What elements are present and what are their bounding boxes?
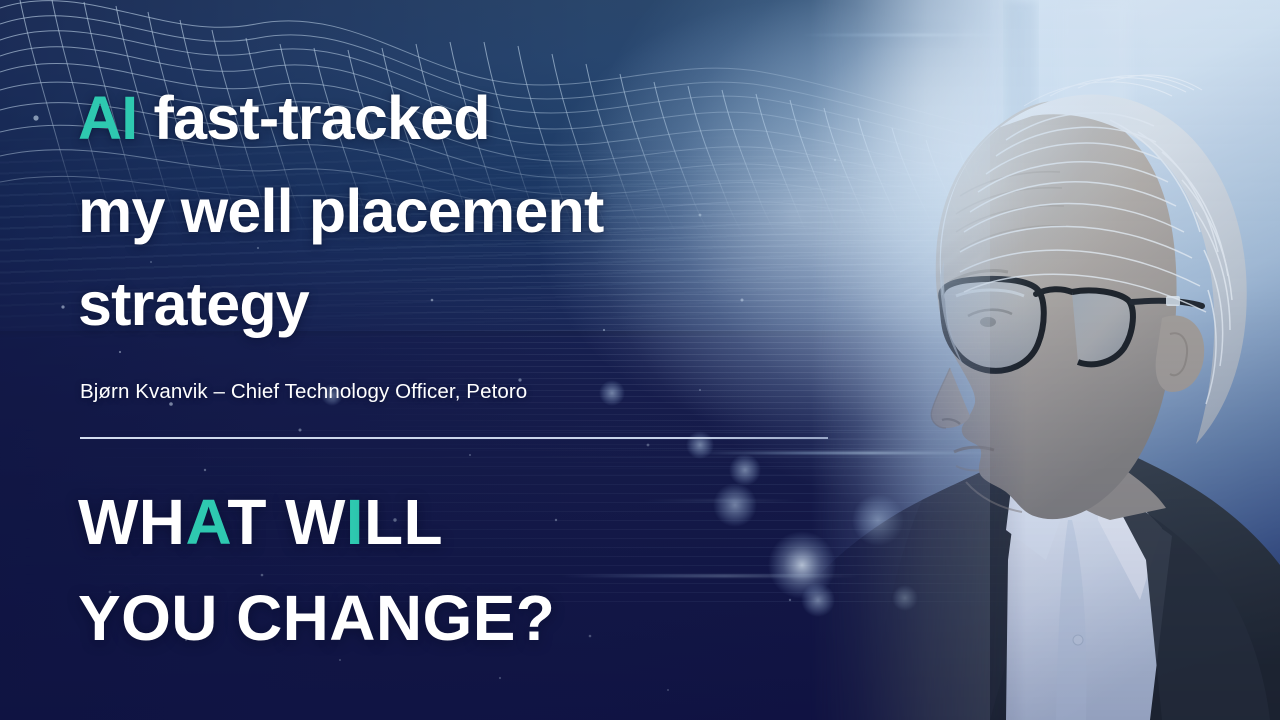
headline-line1-rest: fast-tracked bbox=[137, 84, 489, 152]
promo-slide: AI fast-trackedmy well placementstrategy… bbox=[0, 0, 1280, 720]
slide-content: AI fast-trackedmy well placementstrategy… bbox=[78, 0, 898, 720]
headline-line3: strategy bbox=[78, 270, 309, 338]
cta-part2: T W bbox=[227, 486, 345, 558]
cta-part1: WH bbox=[78, 486, 185, 558]
speaker-byline: Bjørn Kvanvik – Chief Technology Officer… bbox=[80, 380, 527, 404]
divider-rule bbox=[80, 437, 828, 439]
cta-part3: LL bbox=[364, 486, 443, 558]
call-to-action: WHAT WILLYOU CHANGE? bbox=[78, 474, 868, 666]
cta-accent-i: I bbox=[346, 486, 364, 558]
cta-accent-a: A bbox=[185, 486, 227, 558]
headline-line2: my well placement bbox=[78, 177, 603, 245]
headline: AI fast-trackedmy well placementstrategy bbox=[78, 72, 868, 351]
cta-line2: YOU CHANGE? bbox=[78, 582, 555, 654]
headline-accent: AI bbox=[78, 84, 137, 152]
